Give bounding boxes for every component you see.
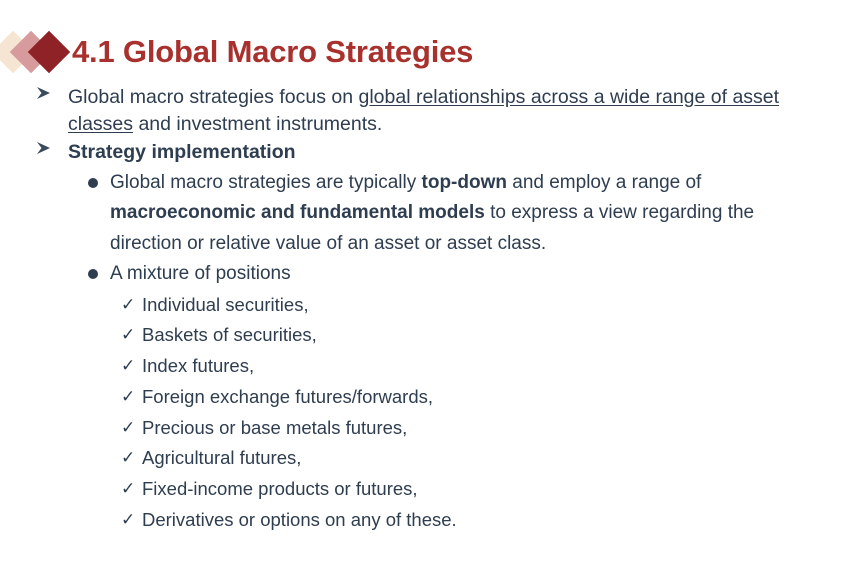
sub1-part-1: Global macro strategies are typically: [110, 172, 422, 193]
list-item-sub2: A mixture of positions: [0, 259, 845, 290]
page-title: 4.1 Global Macro Strategies: [72, 35, 473, 69]
sub1-part-4-bold: macroeconomic and fundamental models: [110, 202, 485, 223]
check-item-label: Derivatives or options on any of these.: [142, 509, 457, 530]
check-icon: ✓: [121, 505, 139, 536]
slide: 4.1 Global Macro Strategies Global macro…: [0, 0, 845, 568]
list-item: ✓ Foreign exchange futures/forwards,: [0, 382, 845, 413]
check-icon: ✓: [121, 413, 139, 444]
check-icon: ✓: [121, 320, 139, 351]
check-list-level3: ✓ Individual securities, ✓ Baskets of se…: [0, 290, 845, 536]
arrowhead-bullet-icon: [36, 86, 54, 106]
dot-bullet-icon: [88, 178, 98, 188]
list-item: ✓ Precious or base metals futures,: [0, 413, 845, 444]
bullet1-text: Global macro strategies focus on global …: [68, 86, 779, 135]
check-item-label: Individual securities,: [142, 294, 309, 315]
sub1-text: Global macro strategies are typically to…: [110, 172, 754, 254]
list-item: ✓ Individual securities,: [0, 290, 845, 321]
slide-body: Global macro strategies focus on global …: [0, 84, 845, 536]
bullet2-text: Strategy implementation: [68, 141, 296, 163]
bullet-list-level1: Global macro strategies focus on global …: [0, 84, 845, 290]
list-item-sub1: Global macro strategies are typically to…: [0, 168, 845, 260]
bullet1-part-1: Global macro strategies focus on: [68, 86, 358, 108]
list-item: ✓ Agricultural futures,: [0, 443, 845, 474]
three-diamonds-icon: [0, 29, 72, 75]
list-item: ✓ Fixed-income products or futures,: [0, 474, 845, 505]
check-item-label: Fixed-income products or futures,: [142, 478, 418, 499]
check-icon: ✓: [121, 290, 139, 321]
slide-title-row: 4.1 Global Macro Strategies: [0, 24, 473, 80]
bullet1-part-3: and investment instruments.: [133, 113, 382, 135]
list-item-bullet2: Strategy implementation: [0, 139, 845, 166]
check-icon: ✓: [121, 474, 139, 505]
check-item-label: Foreign exchange futures/forwards,: [142, 386, 433, 407]
check-item-label: Precious or base metals futures,: [142, 417, 407, 438]
sub1-part-2-bold: top-down: [422, 172, 507, 193]
sub2-text: A mixture of positions: [110, 263, 291, 284]
check-icon: ✓: [121, 382, 139, 413]
list-item: ✓ Derivatives or options on any of these…: [0, 505, 845, 536]
check-item-label: Index futures,: [142, 355, 254, 376]
check-item-label: Baskets of securities,: [142, 324, 317, 345]
sub1-part-3: and employ a range of: [507, 172, 701, 193]
check-item-label: Agricultural futures,: [142, 447, 301, 468]
dot-bullet-icon: [88, 269, 98, 279]
arrowhead-bullet-icon: [36, 141, 54, 161]
list-item: ✓ Index futures,: [0, 351, 845, 382]
list-item-bullet1: Global macro strategies focus on global …: [0, 84, 845, 137]
list-item: ✓ Baskets of securities,: [0, 320, 845, 351]
check-icon: ✓: [121, 351, 139, 382]
check-icon: ✓: [121, 443, 139, 474]
